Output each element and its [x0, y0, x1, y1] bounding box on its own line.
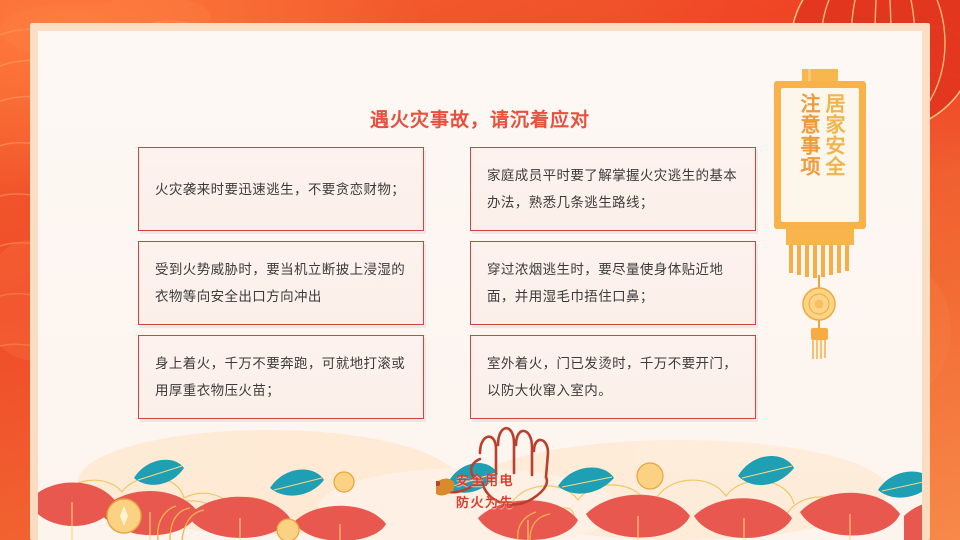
- plug-icon: [436, 475, 457, 498]
- content-panel: 遇火灾事故，请沉着应对 火灾袭来时要迅速逃生，不要贪恋财物； 家庭成员平时要了解…: [38, 31, 922, 540]
- content-panel-border: 遇火灾事故，请沉着应对 火灾袭来时要迅速逃生，不要贪恋财物； 家庭成员平时要了解…: [30, 23, 930, 540]
- tip-text: 家庭成员平时要了解掌握火灾逃生的基本办法，熟悉几条逃生路线；: [487, 162, 739, 216]
- tip-box: 穿过浓烟逃生时，要尽量使身体贴近地面，并用湿毛巾捂住口鼻；: [470, 241, 756, 325]
- tip-text: 受到火势威胁时，要当机立断披上浸湿的衣物等向安全出口方向冲出: [155, 256, 407, 310]
- tip-text: 火灾袭来时要迅速逃生，不要贪恋财物；: [155, 176, 405, 203]
- safety-slogan: 安全用电 防火为先: [456, 486, 586, 512]
- tip-text: 穿过浓烟逃生时，要尽量使身体贴近地面，并用湿毛巾捂住口鼻；: [487, 256, 739, 310]
- medallion-icon: [803, 288, 835, 320]
- tip-box: 受到火势威胁时，要当机立断披上浸湿的衣物等向安全出口方向冲出: [138, 241, 424, 325]
- gold-lantern: 居家安全 注意事项: [764, 69, 876, 359]
- slide-root: 遇火灾事故，请沉着应对 火灾袭来时要迅速逃生，不要贪恋财物； 家庭成员平时要了解…: [0, 0, 960, 540]
- slogan-line-2: 防火为先: [456, 492, 586, 511]
- gold-lantern-graphic: [764, 69, 876, 359]
- slogan-line-1: 安全用电: [456, 470, 586, 489]
- tips-grid: 火灾袭来时要迅速逃生，不要贪恋财物； 家庭成员平时要了解掌握火灾逃生的基本办法，…: [138, 147, 798, 419]
- tip-box: 家庭成员平时要了解掌握火灾逃生的基本办法，熟悉几条逃生路线；: [470, 147, 756, 231]
- tip-box: 火灾袭来时要迅速逃生，不要贪恋财物；: [138, 147, 424, 231]
